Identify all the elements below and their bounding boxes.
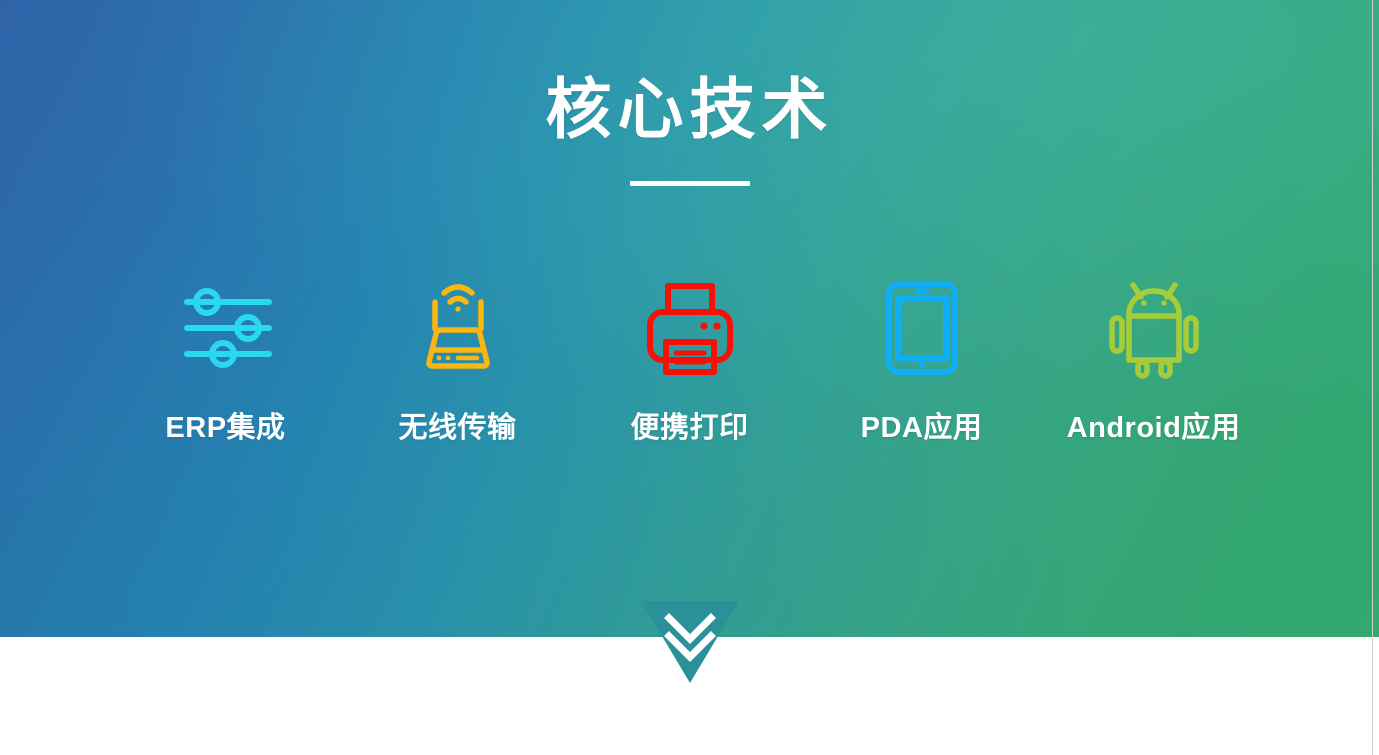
feature-item-wireless[interactable]: 无线传输 [342,276,574,446]
printer-icon [638,276,742,380]
android-robot-icon [1102,276,1206,380]
feature-label: Android应用 [1067,404,1241,446]
feature-item-pda[interactable]: PDA应用 [806,276,1038,446]
title-underline-rule [630,181,750,186]
feature-label: PDA应用 [861,404,983,446]
feature-label: ERP集成 [165,404,285,446]
sliders-icon [174,276,278,380]
scroll-down-button[interactable] [641,601,739,683]
wireless-router-icon [406,276,510,380]
feature-label: 无线传输 [398,404,516,446]
title-block: 核心技术 [0,74,1379,186]
feature-item-android[interactable]: Android应用 [1038,276,1270,446]
feature-item-erp[interactable]: ERP集成 [110,276,342,446]
page-title: 核心技术 [0,74,1379,145]
tablet-icon [870,276,974,380]
feature-item-printer[interactable]: 便携打印 [574,276,806,446]
vertical-scrollbar[interactable] [1372,0,1379,755]
feature-label: 便携打印 [630,404,748,446]
hero-section: 核心技术 ERP集成 [0,0,1379,637]
feature-list: ERP集成 [0,276,1379,446]
